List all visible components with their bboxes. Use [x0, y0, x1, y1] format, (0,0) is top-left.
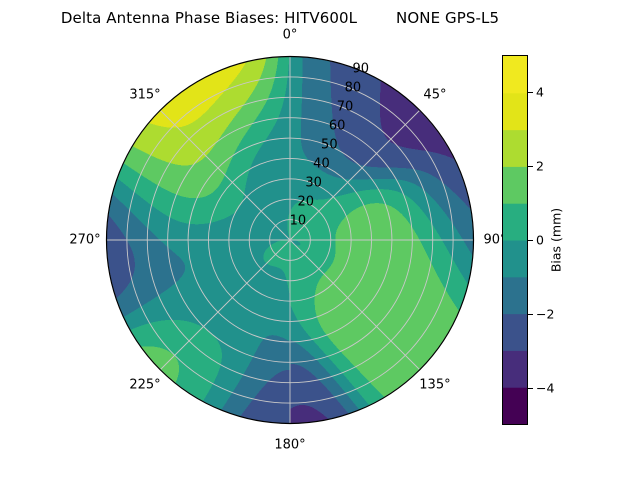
polar-axes: 0°45°90°135°180°225°270°315°102030405060… — [105, 55, 475, 425]
chart-title: Delta Antenna Phase Biases: HITV600L NON… — [0, 9, 560, 27]
azimuth-tick-label-180: 180° — [274, 438, 305, 453]
zenith-tick-label-40: 40 — [313, 157, 330, 172]
colorbar-tick-label: −4 — [536, 381, 554, 396]
azimuth-tick-label-270: 270° — [69, 233, 100, 248]
colorbar-tick-mark — [528, 388, 533, 389]
azimuth-tick-label-135: 135° — [419, 377, 450, 392]
colorbar-tick-label: 4 — [536, 85, 544, 100]
colorbar-label: Bias (mm) — [549, 208, 564, 272]
zenith-tick-label-70: 70 — [337, 100, 354, 115]
colorbar-tick-mark — [528, 314, 533, 315]
azimuth-tick-label-225: 225° — [129, 377, 160, 392]
zenith-tick-label-90: 90 — [353, 62, 370, 77]
zenith-tick-label-10: 10 — [290, 214, 307, 229]
zenith-tick-label-20: 20 — [297, 195, 314, 210]
azimuth-tick-label-315: 315° — [129, 88, 160, 103]
colorbar-gradient — [502, 55, 528, 425]
zenith-tick-label-50: 50 — [321, 138, 338, 153]
polar-contour-plot — [105, 55, 475, 425]
colorbar-tick-mark — [528, 92, 533, 93]
colorbar-tick-label: −2 — [536, 307, 554, 322]
colorbar-tick-label: 2 — [536, 159, 544, 174]
zenith-tick-label-80: 80 — [345, 81, 362, 96]
colorbar-tick-mark — [528, 166, 533, 167]
figure-canvas: Delta Antenna Phase Biases: HITV600L NON… — [0, 0, 640, 480]
azimuth-tick-label-45: 45° — [423, 88, 446, 103]
zenith-tick-label-30: 30 — [305, 176, 322, 191]
azimuth-tick-label-0: 0° — [283, 28, 298, 43]
zenith-tick-label-60: 60 — [329, 119, 346, 134]
colorbar: 420−2−4 — [502, 55, 528, 425]
colorbar-tick-mark — [528, 240, 533, 241]
colorbar-tick-label: 0 — [536, 233, 544, 248]
